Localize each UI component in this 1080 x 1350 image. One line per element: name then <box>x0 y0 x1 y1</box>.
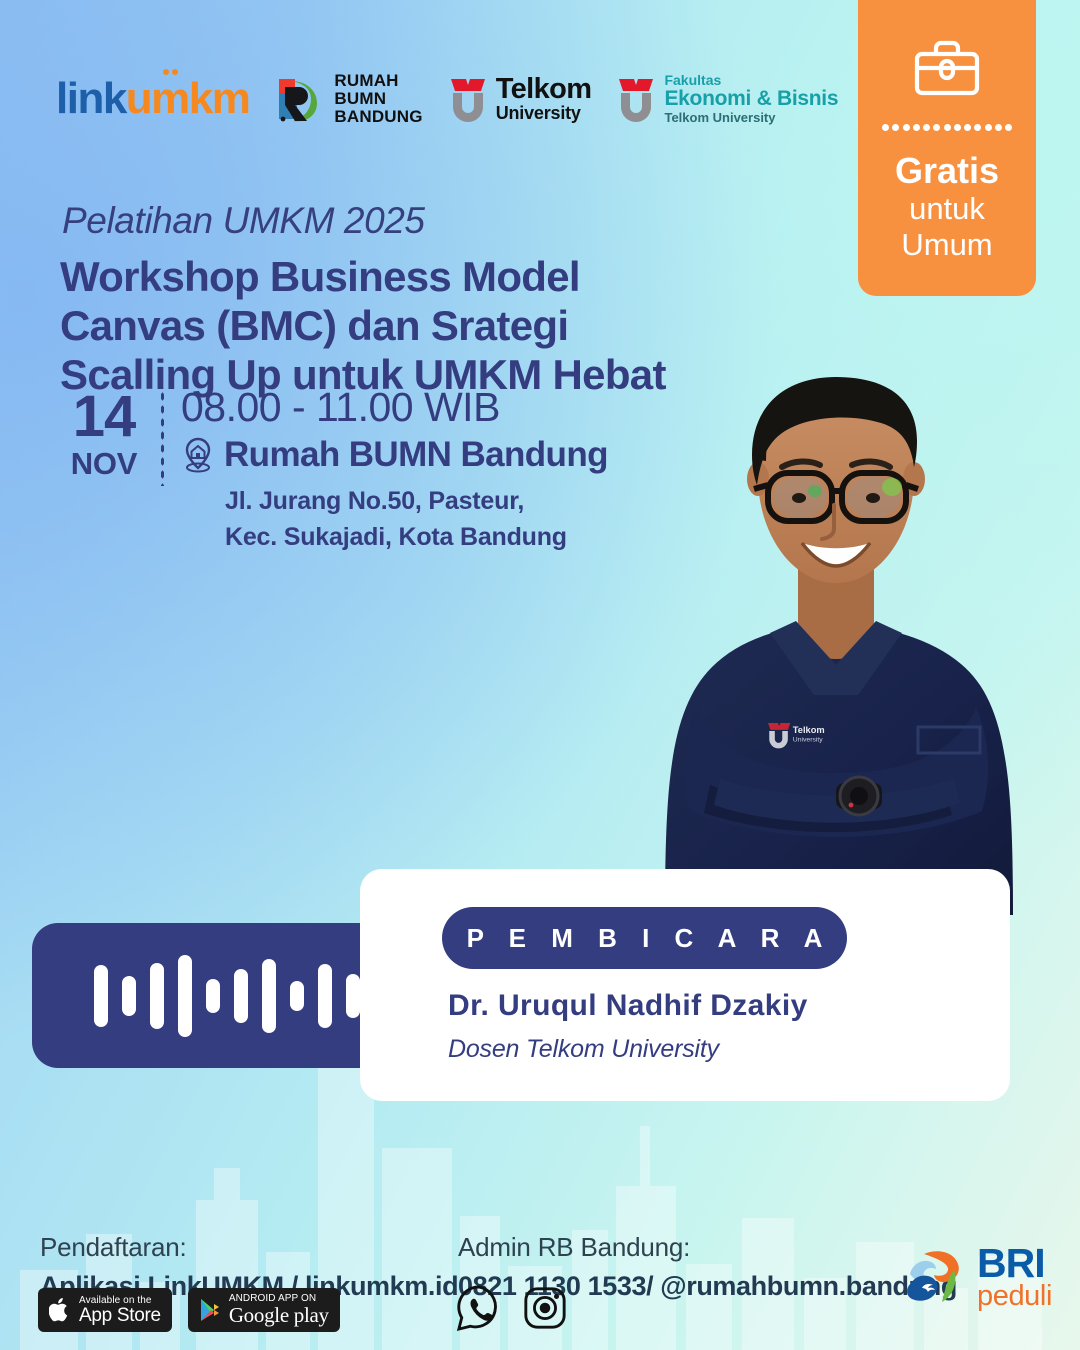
speaker-badge: P E M B I C A R A <box>442 907 847 969</box>
event-venue-row: Rumah BUMN Bandung <box>181 435 608 475</box>
telkom-u-mark-icon <box>447 75 489 123</box>
admin-label: Admin RB Bandung: <box>458 1232 957 1263</box>
vertical-dotted-divider <box>160 390 165 486</box>
event-details: 08.00 - 11.00 WIB Rumah BUMN Bandung Jl.… <box>181 386 608 556</box>
event-datetime-venue: 14 NOV 08.00 - 11.00 WIB Rumah BUMN Band… <box>58 386 608 556</box>
event-month: NOV <box>58 447 150 481</box>
social-icons <box>456 1284 568 1332</box>
google-play-badge[interactable]: ANDROID APP ON Google play <box>188 1288 340 1332</box>
whatsapp-icon[interactable] <box>456 1284 502 1332</box>
app-store-big-text: App Store <box>79 1306 161 1326</box>
bri-text: BRI <box>977 1245 1052 1282</box>
event-address: Jl. Jurang No.50, Pasteur, Kec. Sukajadi… <box>225 483 608 556</box>
linkumkm-people-dots <box>163 69 178 75</box>
briefcase-icon <box>912 38 982 98</box>
linkumkm-logo: link umkm <box>56 77 249 121</box>
badge-line-untuk: untuk <box>909 191 985 228</box>
peduli-text: peduli <box>977 1282 1052 1311</box>
rumah-bumn-logo: RUMAH BUMN BANDUNG <box>273 72 422 126</box>
feb-logo-text: Fakultas Ekonomi & Bisnis Telkom Univers… <box>664 73 838 125</box>
apple-icon <box>49 1297 71 1323</box>
speaker-name: Dr. Uruqul Nadhif Dzakiy <box>448 989 808 1023</box>
svg-text:University: University <box>793 737 823 744</box>
instagram-icon[interactable] <box>522 1284 568 1332</box>
event-date-box: 14 NOV <box>58 386 150 481</box>
google-play-big-text: Google play <box>229 1304 329 1326</box>
rumah-bumn-mark-icon <box>273 73 325 125</box>
feb-telkom-logo: Fakultas Ekonomi & Bisnis Telkom Univers… <box>615 73 838 125</box>
google-play-icon <box>199 1297 221 1323</box>
event-venue-name: Rumah BUMN Bandung <box>224 435 608 475</box>
event-title-line-1: Workshop Business Model <box>60 252 740 301</box>
event-address-line-1: Jl. Jurang No.50, Pasteur, <box>225 483 608 519</box>
feb-u-mark-icon <box>615 75 657 123</box>
poster-canvas: link umkm RUMAH BUMN BANDUNG <box>0 0 1080 1350</box>
badge-line-gratis: Gratis <box>895 151 999 191</box>
rumah-bumn-logo-text: RUMAH BUMN BANDUNG <box>334 72 422 126</box>
bri-peduli-logo: BRI peduli <box>900 1244 1052 1312</box>
app-store-badge[interactable]: Available on the App Store <box>38 1288 172 1332</box>
free-for-public-badge: Gratis untuk Umum <box>858 0 1036 296</box>
bri-peduli-mark-icon <box>900 1244 968 1312</box>
registration-label: Pendaftaran: <box>40 1232 458 1263</box>
linkumkm-logo-umkm: umkm <box>126 77 250 121</box>
linkumkm-logo-link: link <box>56 77 126 121</box>
app-store-badges: Available on the App Store ANDROID APP O… <box>38 1288 340 1332</box>
badge-dotted-divider <box>882 124 1012 131</box>
event-kicker: Pelatihan UMKM 2025 <box>62 200 425 242</box>
location-pin-icon <box>181 437 215 473</box>
svg-text:Telkom: Telkom <box>793 725 825 735</box>
speaker-photo: Telkom University <box>600 355 1070 915</box>
app-store-small-text: Available on the <box>79 1295 161 1306</box>
event-time: 08.00 - 11.00 WIB <box>181 386 608 429</box>
speaker-card: P E M B I C A R A Dr. Uruqul Nadhif Dzak… <box>360 869 1010 1101</box>
event-address-line-2: Kec. Sukajadi, Kota Bandung <box>225 519 608 555</box>
badge-line-umum: Umum <box>901 227 992 264</box>
bri-peduli-wordmark: BRI peduli <box>977 1245 1052 1311</box>
speaker-role: Dosen Telkom University <box>448 1035 719 1064</box>
telkom-university-logo: Telkom University <box>447 75 592 123</box>
partner-logo-bar: link umkm RUMAH BUMN BANDUNG <box>56 72 838 126</box>
event-title-line-2: Canvas (BMC) dan Srategi <box>60 301 740 350</box>
event-day: 14 <box>58 390 150 443</box>
telkom-university-logo-text: Telkom University <box>496 76 592 122</box>
